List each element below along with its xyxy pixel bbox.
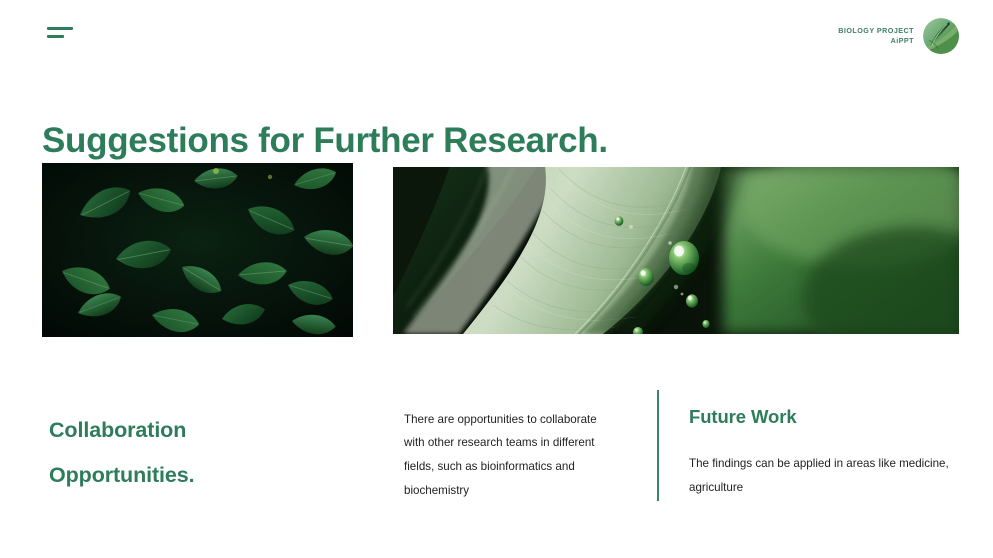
future-work-block: Future Work The findings can be applied …	[689, 404, 957, 511]
vertical-divider	[657, 390, 659, 501]
menu-icon-bar-1	[47, 27, 73, 30]
future-work-heading: Future Work	[689, 404, 957, 430]
hamburger-menu-icon[interactable]	[47, 27, 73, 43]
leaf-circle-logo-icon	[923, 18, 959, 54]
green-nettle-leaves-photo	[42, 163, 353, 337]
brand-block: BIOLOGY PROJECT AiPPT	[838, 18, 959, 54]
brand-product-label: AiPPT	[838, 36, 914, 46]
collaboration-body-text: There are opportunities to collaborate w…	[404, 408, 609, 503]
future-work-body-text: The findings can be applied in areas lik…	[689, 452, 957, 499]
leaf-with-water-droplets-photo	[393, 167, 959, 334]
brand-project-label: BIOLOGY PROJECT	[838, 26, 914, 36]
slide-canvas: BIOLOGY PROJECT AiPPT	[0, 0, 993, 558]
brand-text: BIOLOGY PROJECT AiPPT	[838, 26, 914, 47]
page-title: Suggestions for Further Research.	[42, 119, 608, 163]
collaboration-opportunities-heading: Collaboration Opportunities.	[49, 408, 349, 498]
menu-icon-bar-2	[47, 35, 64, 38]
collaboration-heading-line-1: Collaboration	[49, 418, 186, 442]
collaboration-heading-line-2: Opportunities.	[49, 453, 349, 498]
